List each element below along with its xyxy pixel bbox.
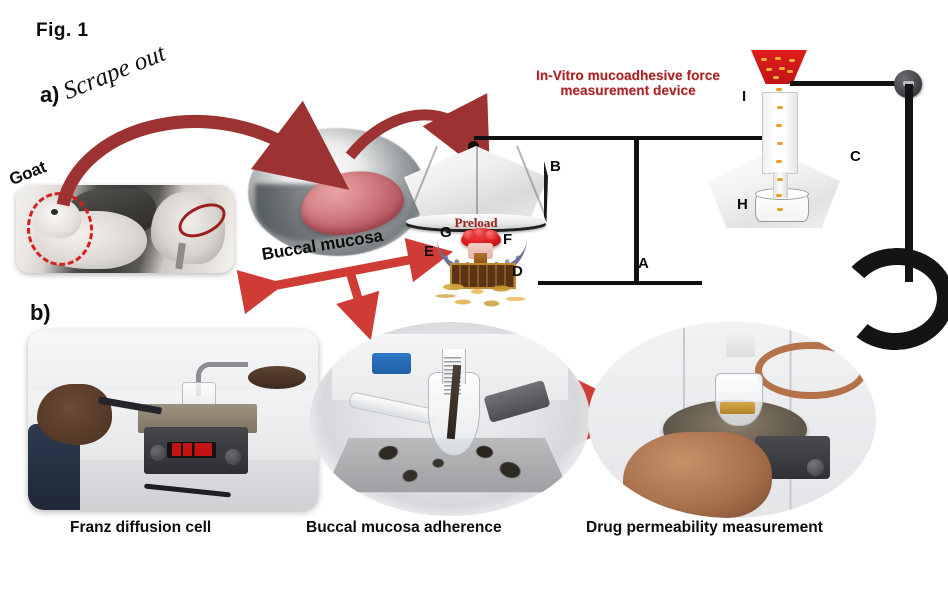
reagent-bottle <box>726 330 755 357</box>
grain <box>775 57 781 60</box>
photo-franz-diffusion-cell <box>28 330 318 510</box>
left-pan-pentagon <box>404 146 548 224</box>
component-label-c: C <box>850 148 861 165</box>
grain <box>773 76 779 79</box>
grain <box>766 68 772 71</box>
grain <box>777 208 783 211</box>
grain <box>776 194 782 197</box>
component-label-i: I <box>742 88 746 105</box>
left-pan-edge <box>544 148 548 223</box>
component-label-a: A <box>638 255 649 272</box>
balance-base <box>538 281 702 285</box>
scrape-out-label: Scrape out <box>60 40 170 106</box>
photo-drug-permeability-measurement <box>588 322 876 518</box>
figure-canvas: Fig. 1 a) b) Goat Scrape out Buccal muco… <box>0 0 948 593</box>
component-label-e: E <box>424 243 434 260</box>
stirrer-digits <box>172 443 213 456</box>
photo-buccal-mucosa-adherence <box>310 322 590 516</box>
grain <box>789 59 795 62</box>
suspension-string <box>790 81 900 86</box>
grain <box>777 142 783 145</box>
component-label-b: B <box>550 158 561 175</box>
component-label-g: G <box>440 224 451 241</box>
blue-equipment <box>372 353 411 374</box>
figure-caption: Fig. 1 <box>36 20 89 42</box>
diffusion-flask <box>715 373 763 426</box>
caption-franz-diffusion-cell: Franz diffusion cell <box>70 519 211 537</box>
researcher-hand <box>37 384 112 445</box>
grain <box>776 160 782 163</box>
grain <box>779 67 785 70</box>
grain <box>777 106 783 109</box>
grain <box>777 178 783 181</box>
orange-hose <box>755 342 867 399</box>
grain <box>776 88 782 91</box>
grain <box>761 58 767 61</box>
grain <box>776 124 782 127</box>
device-title: In-Vitro mucoadhesive force measurement … <box>494 68 762 98</box>
stirrer-knob <box>150 445 166 461</box>
component-label-d: D <box>512 263 523 280</box>
panel-b-label: b) <box>30 300 50 326</box>
grain <box>787 70 793 73</box>
component-label-h: H <box>737 196 748 213</box>
component-label-f: F <box>503 231 512 248</box>
left-pan-rib <box>476 146 478 224</box>
balance-beam <box>474 136 790 140</box>
stirrer-knob <box>225 449 241 465</box>
straw-bedding <box>434 281 530 311</box>
falling-grain-column <box>770 84 790 214</box>
panel-a-label: a) <box>40 82 59 108</box>
researcher-hand <box>623 432 773 518</box>
arrow-mucosa-to-panel-b <box>350 272 364 318</box>
caption-drug-permeability-measurement: Drug permeability measurement <box>586 519 823 537</box>
caption-buccal-mucosa-adherence: Buccal mucosa adherence <box>306 519 502 537</box>
drug-solution <box>720 402 755 414</box>
stirrer-knob <box>807 459 824 476</box>
